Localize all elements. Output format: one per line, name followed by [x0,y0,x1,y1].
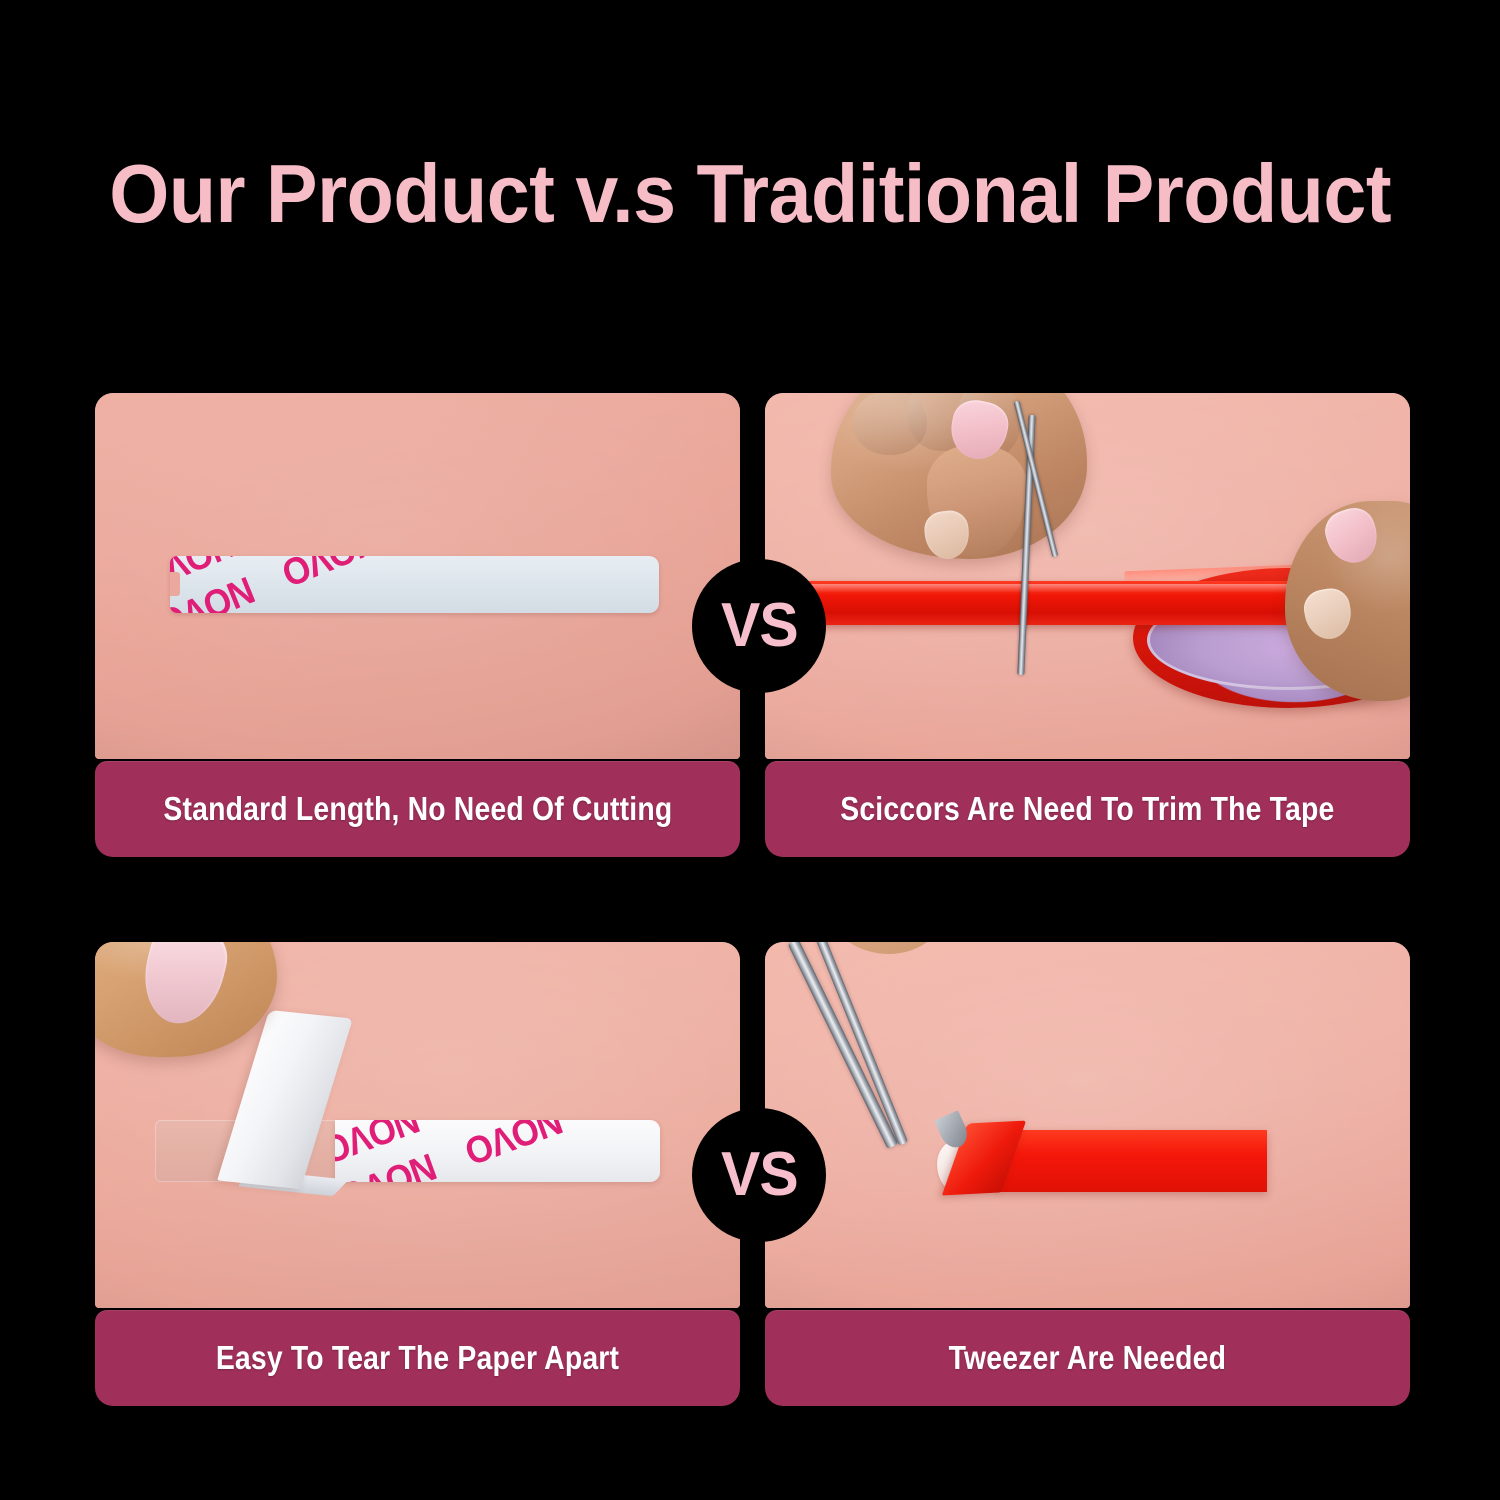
vs-badge-label: VS [721,595,798,657]
fingernail [134,942,234,1032]
red-tape-strip [765,581,1345,625]
caption-bar: Easy To Tear The Paper Apart [95,1310,740,1406]
page-title: Our Product v.s Traditional Product [109,148,1391,240]
vs-badge-top: VS [692,559,826,693]
novo-adhesive-strip: NOVO NOVO NOVO NOVO NOVO NOVO NOVO NOVO … [335,1120,660,1182]
comparison-card-traditional-tweezers: Tweezer Are Needed [765,942,1410,1399]
caption-text: Standard Length, No Need Of Cutting [163,790,672,828]
tape-gloss-highlight [765,584,1345,593]
caption-bar: Tweezer Are Needed [765,1310,1410,1406]
page-header: Our Product v.s Traditional Product [0,148,1500,240]
caption-text: Sciccors Are Need To Trim The Tape [840,790,1334,828]
novo-brand-pattern: NOVO NOVO NOVO NOVO NOVO NOVO NOVO NOVO … [170,556,659,613]
novo-brand-pattern: NOVO NOVO NOVO NOVO NOVO NOVO NOVO NOVO … [335,1120,660,1182]
novo-adhesive-strip: NOVO NOVO NOVO NOVO NOVO NOVO NOVO NOVO … [170,556,659,613]
caption-text: Tweezer Are Needed [949,1339,1227,1377]
red-tape-strip [997,1130,1267,1192]
pink-paper-background [765,942,1410,1308]
vs-badge-bottom: VS [692,1108,826,1242]
comparison-card-our-product-peel: NOVO NOVO NOVO NOVO NOVO NOVO NOVO NOVO … [95,942,740,1399]
photo-tweezers-lifting-tape [765,942,1410,1308]
novo-brand-text: NOVO [460,1120,569,1174]
comparison-grid: NOVO NOVO NOVO NOVO NOVO NOVO NOVO NOVO … [95,393,1410,1405]
photo-precut-strip: NOVO NOVO NOVO NOVO NOVO NOVO NOVO NOVO … [95,393,740,759]
vs-badge-label: VS [721,1144,798,1206]
photo-scissors-cutting-tape [765,393,1410,759]
caption-bar: Standard Length, No Need Of Cutting [95,761,740,857]
comparison-card-traditional-scissors: Sciccors Are Need To Trim The Tape [765,393,1410,850]
novo-brand-text: NOVO [276,556,385,595]
photo-peeling-backing: NOVO NOVO NOVO NOVO NOVO NOVO NOVO NOVO … [95,942,740,1308]
caption-bar: Sciccors Are Need To Trim The Tape [765,761,1410,857]
novo-brand-text: NOVO [586,1120,660,1128]
caption-text: Easy To Tear The Paper Apart [216,1339,619,1377]
comparison-card-our-product-length: NOVO NOVO NOVO NOVO NOVO NOVO NOVO NOVO … [95,393,740,850]
